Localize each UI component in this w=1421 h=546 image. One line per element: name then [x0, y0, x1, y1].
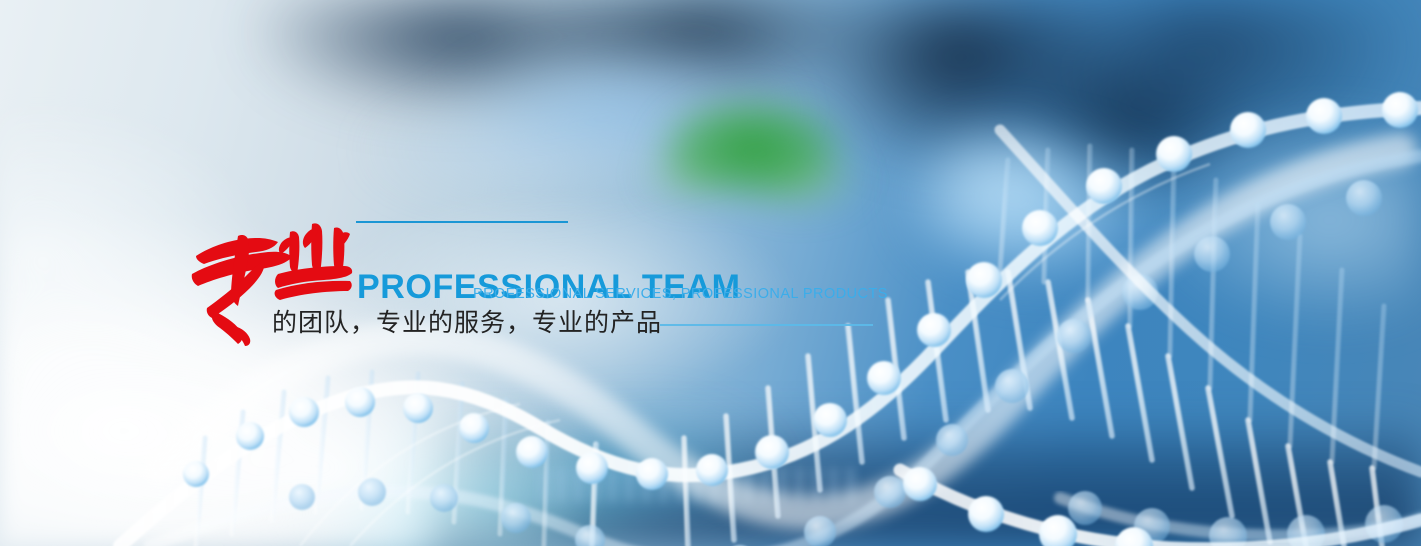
decorative-rule-bottom [660, 324, 873, 326]
hero-banner: PROFESSIONAL TEAM PROFESSIONAL SERVICES,… [0, 0, 1421, 546]
decorative-rule-top [356, 221, 568, 223]
banner-content: PROFESSIONAL TEAM PROFESSIONAL SERVICES,… [0, 0, 1421, 546]
chinese-tagline: 的团队，专业的服务，专业的产品 [272, 307, 662, 339]
subtitle: PROFESSIONAL SERVICES, PROFESSIONAL PROD… [473, 285, 888, 303]
